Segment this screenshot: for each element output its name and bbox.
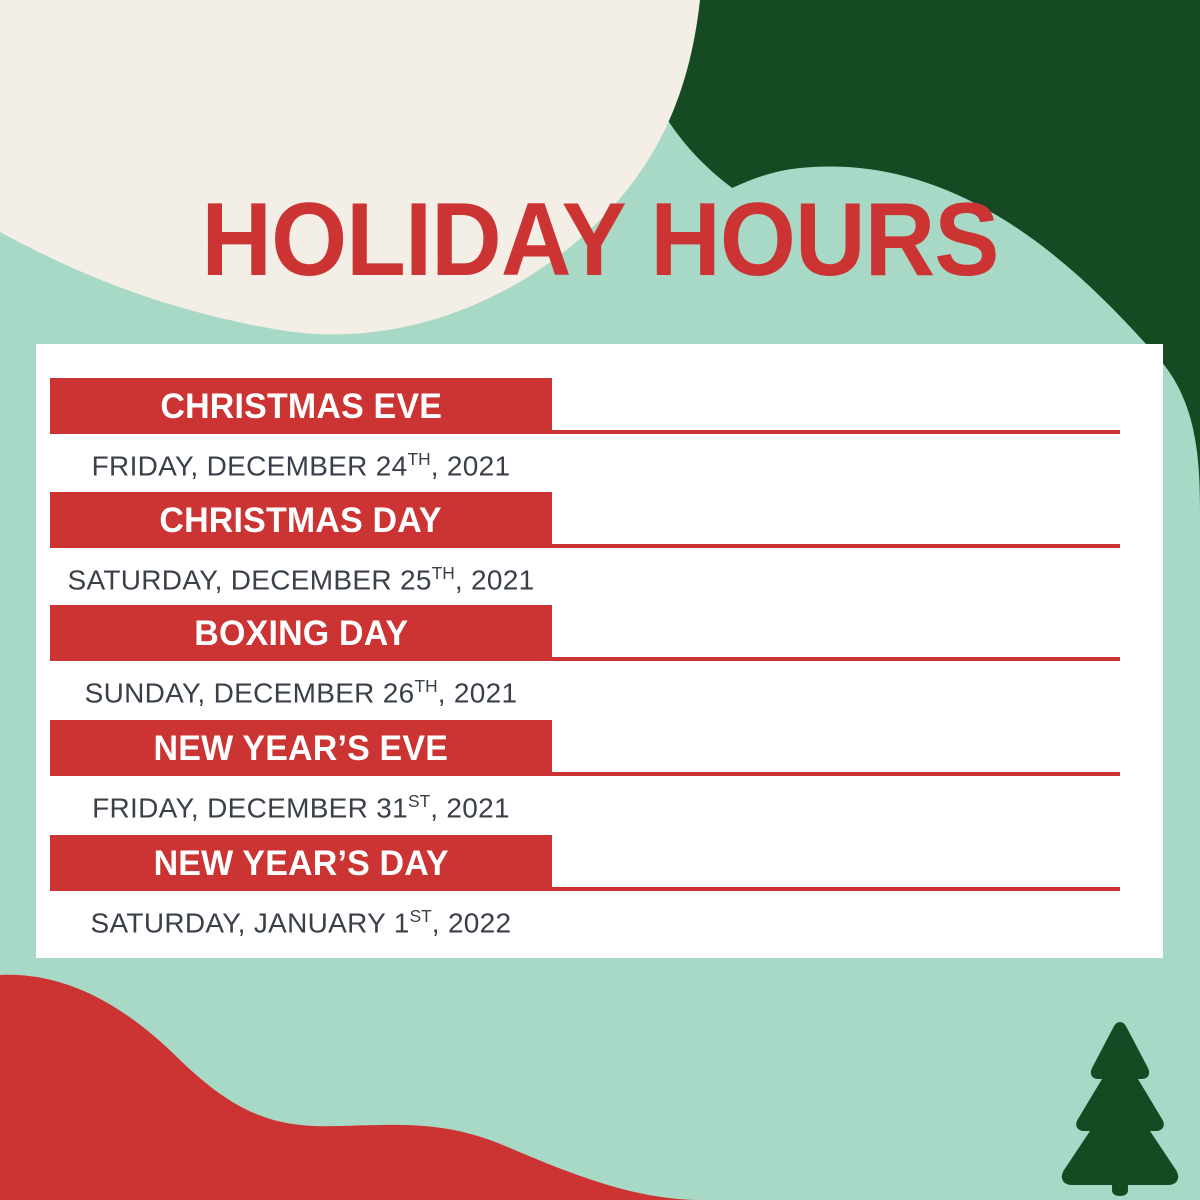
date-year: 2021 xyxy=(447,450,511,481)
holiday-label-bar[interactable]: NEW YEAR’S EVE xyxy=(50,720,552,776)
date-weekday: SATURDAY, xyxy=(67,564,222,595)
date-year: 2021 xyxy=(454,677,518,708)
date-ordinal: ST xyxy=(410,906,432,926)
holiday-row: NEW YEAR’S DAY SATURDAY, JANUARY 1ST, 20… xyxy=(36,835,1163,949)
holiday-date: FRIDAY, DECEMBER 24TH, 2021 xyxy=(50,438,552,487)
holiday-label: BOXING DAY xyxy=(194,616,408,651)
date-ordinal: TH xyxy=(415,676,438,696)
date-day: 31 xyxy=(376,792,408,823)
hours-write-in-line[interactable] xyxy=(552,887,1120,891)
date-ordinal: ST xyxy=(408,791,430,811)
holiday-label-bar[interactable]: NEW YEAR’S DAY xyxy=(50,835,552,891)
christmas-tree-icon xyxy=(1052,1018,1188,1196)
holiday-label: CHRISTMAS DAY xyxy=(160,503,442,538)
date-year: 2021 xyxy=(471,564,535,595)
hours-write-in-line[interactable] xyxy=(552,544,1120,548)
holiday-date: SATURDAY, DECEMBER 25TH, 2021 xyxy=(50,552,552,601)
holiday-date: FRIDAY, DECEMBER 31ST, 2021 xyxy=(50,780,552,829)
hours-write-in-line[interactable] xyxy=(552,772,1120,776)
holiday-date: SATURDAY, JANUARY 1ST, 2022 xyxy=(50,895,552,944)
date-year: 2021 xyxy=(446,792,510,823)
hours-write-in-line[interactable] xyxy=(552,657,1120,661)
date-day: 1 xyxy=(394,907,410,938)
date-year: 2022 xyxy=(448,907,512,938)
date-weekday: SATURDAY, xyxy=(91,907,246,938)
date-month: DECEMBER xyxy=(207,792,368,823)
holiday-row: NEW YEAR’S EVE FRIDAY, DECEMBER 31ST, 20… xyxy=(36,720,1163,834)
holiday-row: CHRISTMAS EVE FRIDAY, DECEMBER 24TH, 202… xyxy=(36,378,1163,492)
holiday-label-bar[interactable]: CHRISTMAS EVE xyxy=(50,378,552,434)
holiday-label-bar[interactable]: CHRISTMAS DAY xyxy=(50,492,552,548)
holiday-label: CHRISTMAS EVE xyxy=(160,389,442,424)
date-month: DECEMBER xyxy=(231,564,392,595)
holiday-row: BOXING DAY SUNDAY, DECEMBER 26TH, 2021 xyxy=(36,605,1163,719)
holiday-date: SUNDAY, DECEMBER 26TH, 2021 xyxy=(50,665,552,714)
holiday-hours-poster: HOLIDAY HOURS CHRISTMAS EVE FRIDAY, DECE… xyxy=(0,0,1200,1200)
date-weekday: FRIDAY, xyxy=(92,450,199,481)
date-day: 26 xyxy=(383,677,415,708)
date-ordinal: TH xyxy=(432,563,455,583)
date-month: DECEMBER xyxy=(207,450,368,481)
date-ordinal: TH xyxy=(408,449,431,469)
hours-write-in-line[interactable] xyxy=(552,430,1120,434)
holiday-hours-card: CHRISTMAS EVE FRIDAY, DECEMBER 24TH, 202… xyxy=(36,344,1163,958)
date-weekday: SUNDAY, xyxy=(85,677,206,708)
holiday-label-bar[interactable]: BOXING DAY xyxy=(50,605,552,661)
page-title: HOLIDAY HOURS xyxy=(36,188,1164,292)
holiday-label: NEW YEAR’S DAY xyxy=(153,846,448,881)
holiday-row: CHRISTMAS DAY SATURDAY, DECEMBER 25TH, 2… xyxy=(36,492,1163,606)
date-weekday: FRIDAY, xyxy=(92,792,199,823)
holiday-label: NEW YEAR’S EVE xyxy=(154,731,449,766)
date-day: 24 xyxy=(376,450,408,481)
date-day: 25 xyxy=(400,564,432,595)
date-month: DECEMBER xyxy=(214,677,375,708)
date-month: JANUARY xyxy=(254,907,386,938)
